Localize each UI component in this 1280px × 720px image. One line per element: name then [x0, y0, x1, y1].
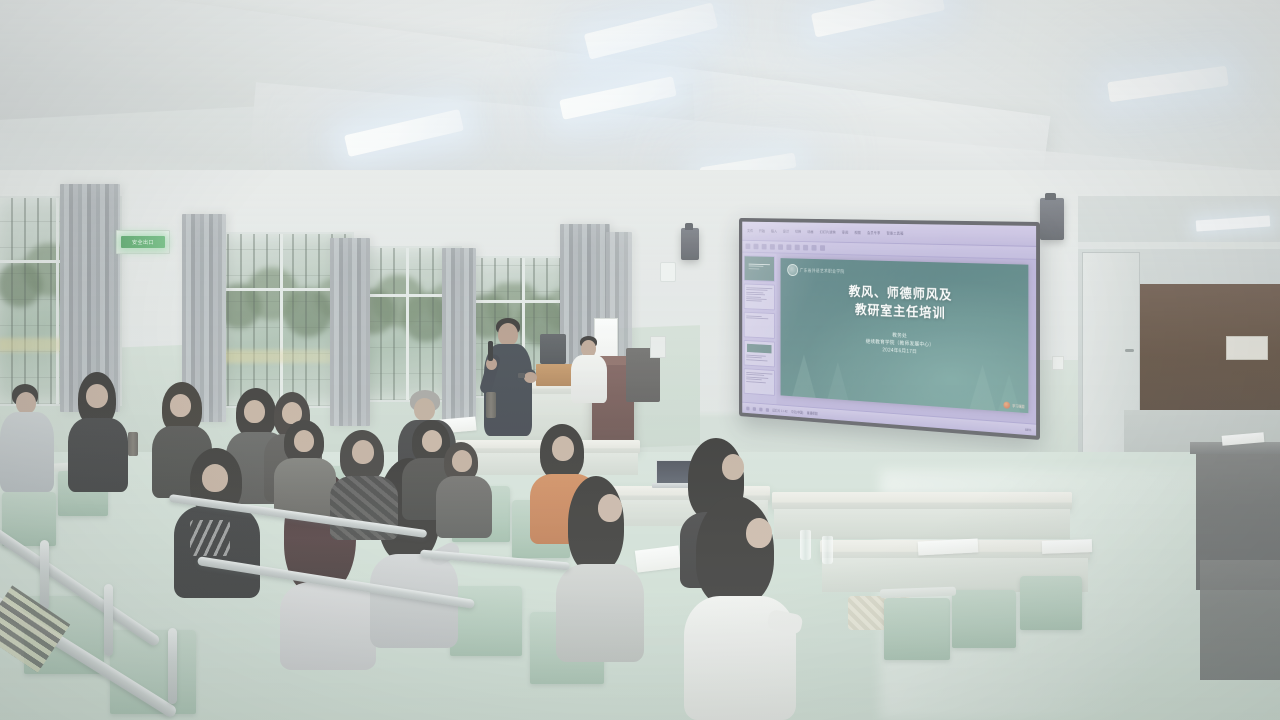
- stair-handrail-post: [168, 628, 177, 704]
- school-name: 广东省外语艺术职业学院: [800, 267, 845, 274]
- slide-thumbnail[interactable]: [744, 368, 775, 396]
- app-badge: 学习强国: [1004, 401, 1025, 409]
- attendee-head: [170, 394, 191, 417]
- attendee-head: [414, 398, 435, 421]
- decorative-tree-icon: [969, 364, 995, 411]
- attendee-head: [598, 494, 622, 522]
- bullet-list-icon[interactable]: [770, 244, 775, 250]
- shape-icon[interactable]: [786, 244, 791, 250]
- attendee-torso: [436, 476, 492, 538]
- chart-icon[interactable]: [812, 245, 817, 251]
- attendee-torso: [280, 582, 376, 670]
- attendee-head: [352, 440, 374, 464]
- notebook-page: [1042, 539, 1092, 554]
- wall-speaker-left-icon: [681, 228, 699, 260]
- assistant-at-lectern: [568, 336, 612, 406]
- auditorium-seat[interactable]: [1020, 576, 1082, 630]
- corridor-light: [1196, 215, 1271, 231]
- reading-view-icon[interactable]: [759, 407, 762, 411]
- attendee-torso: [0, 412, 54, 492]
- water-bottle: [800, 530, 811, 560]
- side-cabinet-lower: [1200, 560, 1280, 680]
- ribbon-tab[interactable]: 设计: [781, 229, 791, 234]
- normal-view-icon[interactable]: [746, 406, 749, 410]
- thermos-bottle: [486, 392, 496, 418]
- attendee: [174, 448, 260, 598]
- computer-monitor[interactable]: [540, 334, 566, 364]
- badge-label: 学习强国: [1012, 403, 1024, 409]
- view-mode-label: 普通视图: [807, 410, 818, 415]
- auditorium-seat[interactable]: [884, 598, 950, 660]
- row-desk-front: [774, 509, 1070, 539]
- slide-canvas[interactable]: 广东省外语艺术职业学院 教风、师德师风及 教研室主任培训 教务处 继续教育学院（…: [776, 253, 1036, 423]
- ribbon-tab[interactable]: 智能工具箱: [885, 231, 905, 236]
- decorative-tree-icon: [826, 361, 850, 406]
- attendee-head: [16, 392, 36, 414]
- sorter-view-icon[interactable]: [753, 407, 756, 411]
- ribbon-tab[interactable]: 文件: [745, 228, 754, 233]
- exit-sign-left: 安全出口: [116, 230, 170, 254]
- row-desk: [772, 492, 1072, 510]
- water-dispenser: [650, 336, 666, 358]
- water-bottle: [822, 536, 833, 564]
- attendee: [274, 420, 338, 516]
- stair-handrail-post: [40, 540, 49, 610]
- attendee-head: [86, 384, 108, 408]
- slide-thumbnail-panel[interactable]: [742, 253, 776, 405]
- slide-subtitle: 教务处 继续教育学院（教师发展中心） 2024年6月17日: [781, 326, 1029, 362]
- zoom-level[interactable]: 66%: [1025, 427, 1031, 431]
- slide-counter: 幻灯片 1 / 42: [772, 408, 787, 414]
- bold-icon[interactable]: [745, 244, 750, 250]
- font-color-icon[interactable]: [762, 244, 767, 250]
- school-emblem: 广东省外语艺术职业学院: [787, 264, 844, 278]
- image-icon[interactable]: [795, 245, 800, 251]
- projection-display[interactable]: 文件 开始 插入 设计 切换 动画 幻灯片放映 审阅 视图 会员专享 智能工具箱: [739, 218, 1040, 440]
- wall-speaker-right-icon: [1040, 198, 1064, 240]
- jacket-graphic: [190, 520, 230, 556]
- attendee: [436, 442, 496, 538]
- attendee-torso: [274, 458, 336, 516]
- slideshow-icon[interactable]: [766, 408, 769, 412]
- attendee-hair: [696, 496, 774, 606]
- wall-outlet[interactable]: [1052, 356, 1064, 370]
- ribbon-tab[interactable]: 插入: [769, 229, 779, 234]
- attendee-head: [202, 464, 228, 492]
- attendee: [0, 384, 56, 494]
- exit-sign-left-label: 安全出口: [132, 239, 154, 246]
- attendee-head: [746, 518, 772, 548]
- stair-handrail-post: [104, 584, 113, 656]
- attendee: [62, 372, 130, 492]
- attendee-torso: [556, 564, 644, 662]
- auditorium-seat[interactable]: [450, 586, 522, 656]
- language-indicator[interactable]: 中文(中国): [791, 409, 803, 415]
- attendee-torso: [68, 418, 128, 492]
- italic-icon[interactable]: [754, 244, 759, 250]
- attendee: [556, 476, 648, 662]
- attendee-head: [452, 450, 472, 472]
- attendee-hair: [568, 476, 624, 572]
- assistant-torso: [571, 355, 607, 403]
- attendee-head: [552, 436, 574, 461]
- presenter-head: [498, 323, 518, 346]
- attendee-head: [722, 454, 744, 480]
- slide-thumbnail[interactable]: [744, 255, 775, 282]
- powerpoint-window[interactable]: 文件 开始 插入 设计 切换 动画 幻灯片放映 审阅 视图 会员专享 智能工具箱: [742, 222, 1036, 436]
- microphone-icon: [488, 341, 493, 361]
- auditorium-seat[interactable]: [952, 590, 1016, 648]
- attendee: [684, 496, 800, 720]
- wall-thermostat[interactable]: [660, 262, 676, 282]
- align-left-icon[interactable]: [778, 244, 783, 250]
- ribbon-tab[interactable]: 会员专享: [865, 231, 882, 236]
- photo-scene: 安全出口 安全出口 文件 开始 插入 设计 切换 动画 幻灯片放映 审阅 视图 …: [0, 0, 1280, 720]
- ribbon-tab[interactable]: 视图: [853, 230, 863, 235]
- ribbon-tab[interactable]: 开始: [757, 229, 766, 234]
- current-slide[interactable]: 广东省外语艺术职业学院 教风、师德师风及 教研室主任培训 教务处 继续教育学院（…: [781, 258, 1029, 413]
- ribbon-tab[interactable]: 幻灯片放映: [818, 230, 838, 235]
- wristwatch-icon: [518, 373, 525, 378]
- slide-thumbnail[interactable]: [744, 340, 775, 367]
- table-icon[interactable]: [803, 245, 808, 251]
- attendee-head: [294, 430, 314, 452]
- corridor-wooden-door: [1134, 284, 1280, 414]
- slide-thumbnail[interactable]: [744, 312, 775, 339]
- animation-icon[interactable]: [820, 245, 825, 251]
- badge-icon: [1004, 401, 1011, 408]
- emblem-icon: [787, 264, 798, 276]
- slide-thumbnail[interactable]: [744, 284, 775, 311]
- ribbon-tab[interactable]: 审阅: [840, 230, 850, 235]
- ribbon-tab[interactable]: 切换: [793, 229, 803, 234]
- slide-title: 教风、师德师风及 教研室主任培训: [781, 280, 1029, 326]
- decorative-tree-icon: [792, 354, 816, 398]
- presenter-hand-right: [524, 372, 537, 383]
- ribbon-tab[interactable]: 动画: [806, 230, 816, 235]
- door-frame-header: [1078, 242, 1280, 249]
- curtain-panel[interactable]: [330, 238, 370, 426]
